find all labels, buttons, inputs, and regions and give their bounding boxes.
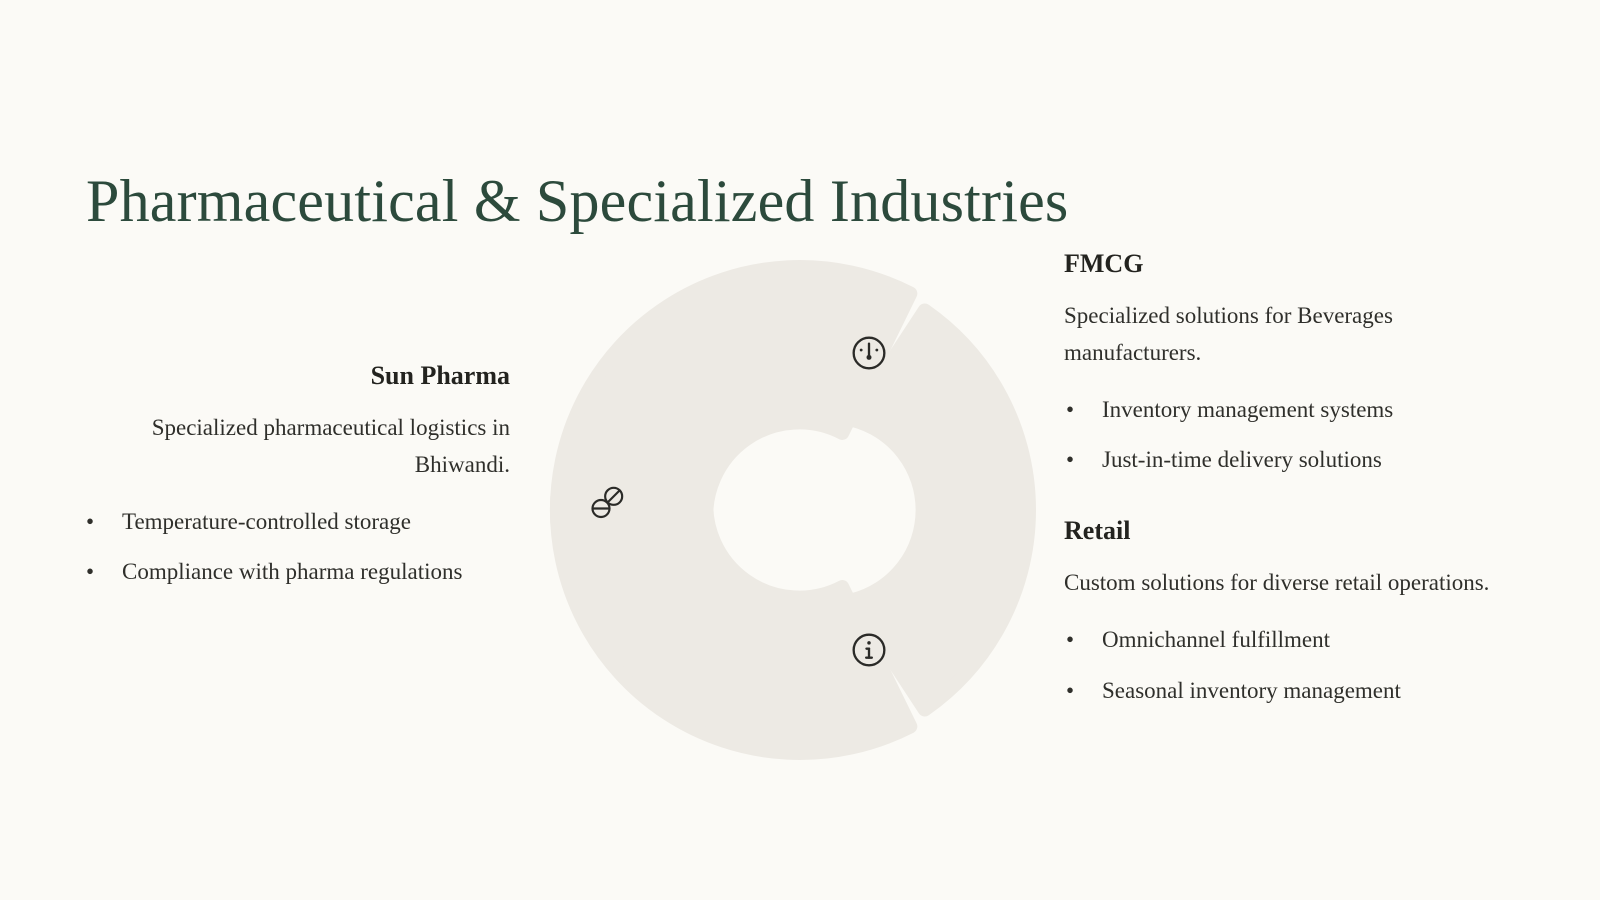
bullet-icon: • — [1066, 673, 1074, 710]
list-item-label: Temperature-controlled storage — [122, 509, 411, 534]
bullet-icon: • — [1066, 622, 1074, 659]
block-description: Custom solutions for diverse retail oper… — [1064, 564, 1534, 601]
bullet-icon: • — [86, 504, 94, 541]
gauge-icon — [849, 333, 889, 373]
industry-block-retail: Retail Custom solutions for diverse reta… — [1064, 515, 1534, 709]
block-bullet-list: • Omnichannel fulfillment • Seasonal inv… — [1064, 622, 1534, 710]
bullet-icon: • — [1066, 392, 1074, 429]
list-item: • Temperature-controlled storage — [70, 504, 510, 541]
block-description: Specialized pharmaceutical logistics in … — [70, 409, 510, 484]
bullet-icon: • — [1066, 442, 1074, 479]
block-heading: FMCG — [1064, 248, 1534, 279]
block-heading: Retail — [1064, 515, 1534, 546]
block-description: Specialized solutions for Beverages manu… — [1064, 297, 1534, 372]
list-item: • Inventory management systems — [1064, 392, 1534, 429]
list-item: • Compliance with pharma regulations — [70, 554, 510, 591]
industry-block-fmcg: FMCG Specialized solutions for Beverages… — [1064, 248, 1534, 479]
list-item-label: Compliance with pharma regulations — [122, 559, 462, 584]
list-item-label: Inventory management systems — [1102, 397, 1393, 422]
block-heading: Sun Pharma — [70, 360, 510, 391]
list-item: • Just-in-time delivery solutions — [1064, 442, 1534, 479]
list-item-label: Seasonal inventory management — [1102, 678, 1401, 703]
left-column: Sun Pharma Specialized pharmaceutical lo… — [70, 360, 510, 591]
list-item-label: Just-in-time delivery solutions — [1102, 447, 1382, 472]
right-column: FMCG Specialized solutions for Beverages… — [1064, 248, 1534, 709]
block-bullet-list: • Temperature-controlled storage • Compl… — [70, 504, 510, 592]
block-bullet-list: • Inventory management systems • Just-in… — [1064, 392, 1534, 480]
slide-root: Pharmaceutical & Specialized Industries … — [0, 0, 1600, 900]
list-item: • Seasonal inventory management — [1064, 673, 1534, 710]
info-circle-icon — [849, 630, 889, 670]
industry-block-sun-pharma: Sun Pharma Specialized pharmaceutical lo… — [70, 360, 510, 591]
bullet-icon: • — [86, 554, 94, 591]
industries-donut-chart — [545, 255, 1055, 765]
pills-icon — [587, 483, 627, 523]
page-title: Pharmaceutical & Specialized Industries — [86, 168, 1068, 234]
list-item: • Omnichannel fulfillment — [1064, 622, 1534, 659]
list-item-label: Omnichannel fulfillment — [1102, 627, 1330, 652]
